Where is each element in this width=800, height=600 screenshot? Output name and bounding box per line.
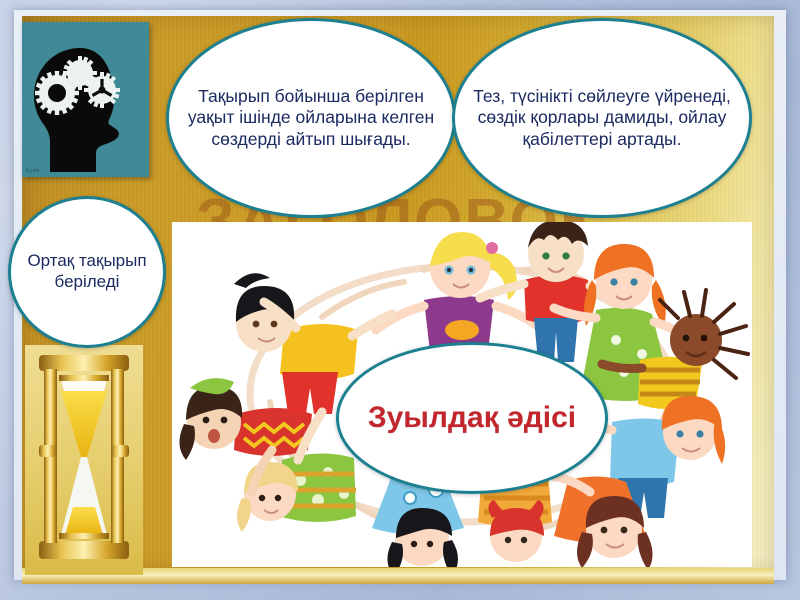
brain-silhouette-icon — [30, 46, 138, 174]
bubble-speech-development[interactable]: Тез, түсінікті сөйлеуге үйренеді, сөздік… — [452, 18, 752, 218]
image-watermark: it.com — [26, 168, 39, 174]
bubble-common-topic-text: Ортақ тақырып беріледі — [11, 251, 163, 292]
bubble-topic-time[interactable]: Тақырып бойынша берілген уақыт ішінде ой… — [166, 18, 456, 218]
bubble-speech-development-text: Тез, түсінікті сөйлеуге үйренеді, сөздік… — [455, 86, 749, 150]
bubble-method-title-text: Зуылдақ әдісі — [358, 400, 586, 435]
bubble-topic-time-text: Тақырып бойынша берілген уақыт ішінде ой… — [169, 86, 453, 150]
hourglass-image — [25, 345, 143, 575]
bubble-common-topic[interactable]: Ортақ тақырып беріледі — [8, 196, 166, 348]
brain-gears-image: it.com — [22, 22, 149, 177]
slide-canvas: ЗАГОЛОВОК — [0, 0, 800, 600]
bubble-method-title[interactable]: Зуылдақ әдісі — [336, 342, 608, 494]
hourglass-icon — [25, 345, 143, 575]
